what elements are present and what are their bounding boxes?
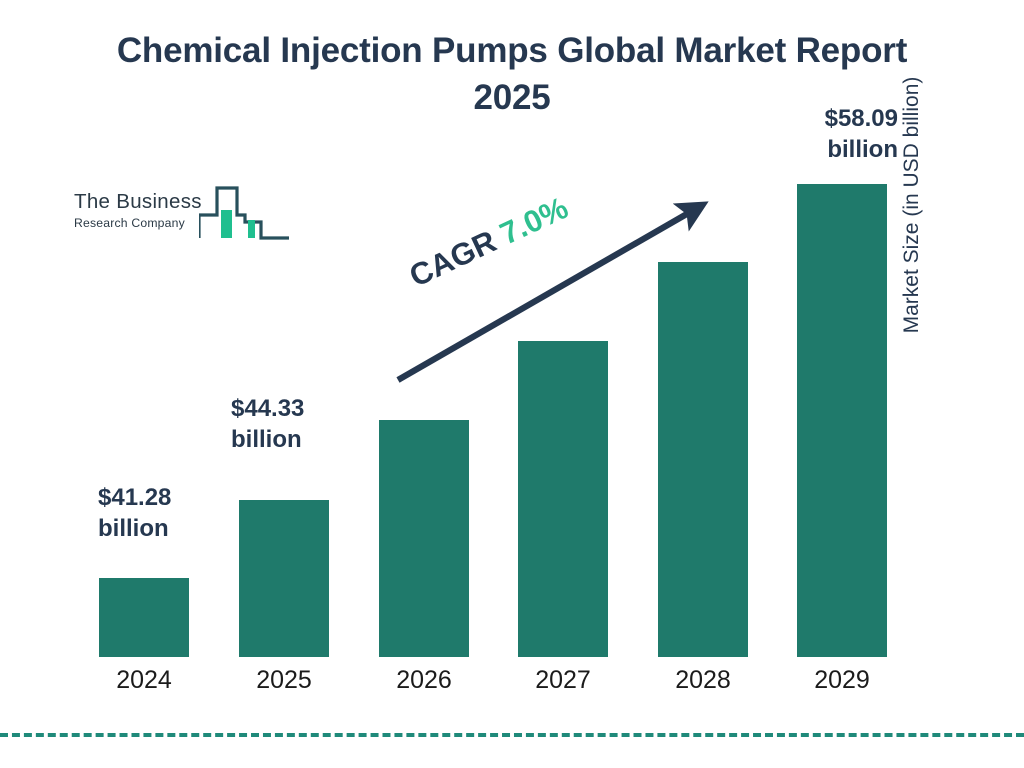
brand-logo: The Business Research Company — [74, 182, 289, 252]
value-label-2025-amount: $44.33 — [231, 394, 351, 425]
value-label-2024: $41.28 billion — [98, 483, 218, 544]
x-tick-2027: 2027 — [508, 668, 618, 693]
bar-2029 — [797, 184, 887, 657]
value-label-2025-unit: billion — [231, 425, 351, 456]
x-tick-2026: 2026 — [369, 668, 479, 693]
bar-2026 — [379, 420, 469, 657]
logo-line-2: Research Company — [74, 217, 204, 229]
logo-bars-icon — [199, 182, 289, 249]
value-label-2024-amount: $41.28 — [98, 483, 218, 514]
value-label-2029-unit: billion — [770, 135, 898, 166]
chart-canvas: Chemical Injection Pumps Global Market R… — [0, 0, 1024, 768]
x-tick-2024: 2024 — [89, 668, 199, 693]
bar-2024 — [99, 578, 189, 657]
x-tick-2029: 2029 — [787, 668, 897, 693]
value-label-2029-amount: $58.09 — [770, 104, 898, 135]
x-tick-2028: 2028 — [648, 668, 758, 693]
x-tick-2025: 2025 — [229, 668, 339, 693]
footer-divider — [0, 733, 1024, 737]
bar-2025 — [239, 500, 329, 657]
value-label-2025: $44.33 billion — [231, 394, 351, 455]
value-label-2029: $58.09 billion — [770, 104, 898, 165]
logo-wordmark: The Business Research Company — [74, 192, 204, 229]
value-label-2024-unit: billion — [98, 514, 218, 545]
y-axis-title: Market Size (in USD billion) — [900, 40, 940, 370]
logo-line-1: The Business — [74, 192, 204, 213]
